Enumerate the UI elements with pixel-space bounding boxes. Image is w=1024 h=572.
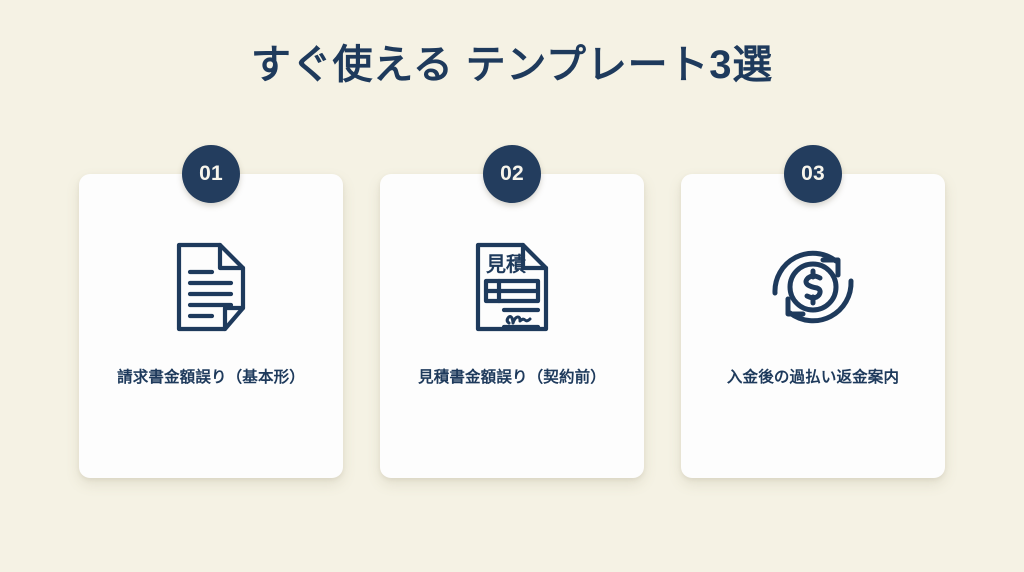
document-lines-icon — [174, 236, 248, 338]
quote-icon-heading-text: 見積 — [486, 252, 527, 276]
template-card[interactable]: 02 見積 — [380, 174, 644, 478]
card-number-badge: 03 — [784, 145, 842, 203]
card-number-badge: 01 — [182, 145, 240, 203]
template-card[interactable]: 01 請求書金額誤り（基本形） — [79, 174, 343, 478]
quote-document-icon: 見積 — [473, 236, 551, 338]
card-number-badge: 02 — [483, 145, 541, 203]
page-title: すぐ使える テンプレート3選 — [0, 40, 1024, 90]
template-card[interactable]: 03 入金後の過払い返金案内 — [681, 174, 945, 478]
card-label: 入金後の過払い返金案内 — [727, 365, 899, 387]
template-card-list: 01 請求書金額誤り（基本形） 02 — [79, 174, 945, 480]
refund-circular-arrows-dollar-icon — [765, 236, 861, 338]
slide-root: すぐ使える テンプレート3選 01 請求書金額誤り（基本形 — [0, 0, 1024, 572]
card-label: 請求書金額誤り（基本形） — [117, 365, 305, 387]
card-label: 見積書金額誤り（契約前） — [418, 365, 606, 387]
